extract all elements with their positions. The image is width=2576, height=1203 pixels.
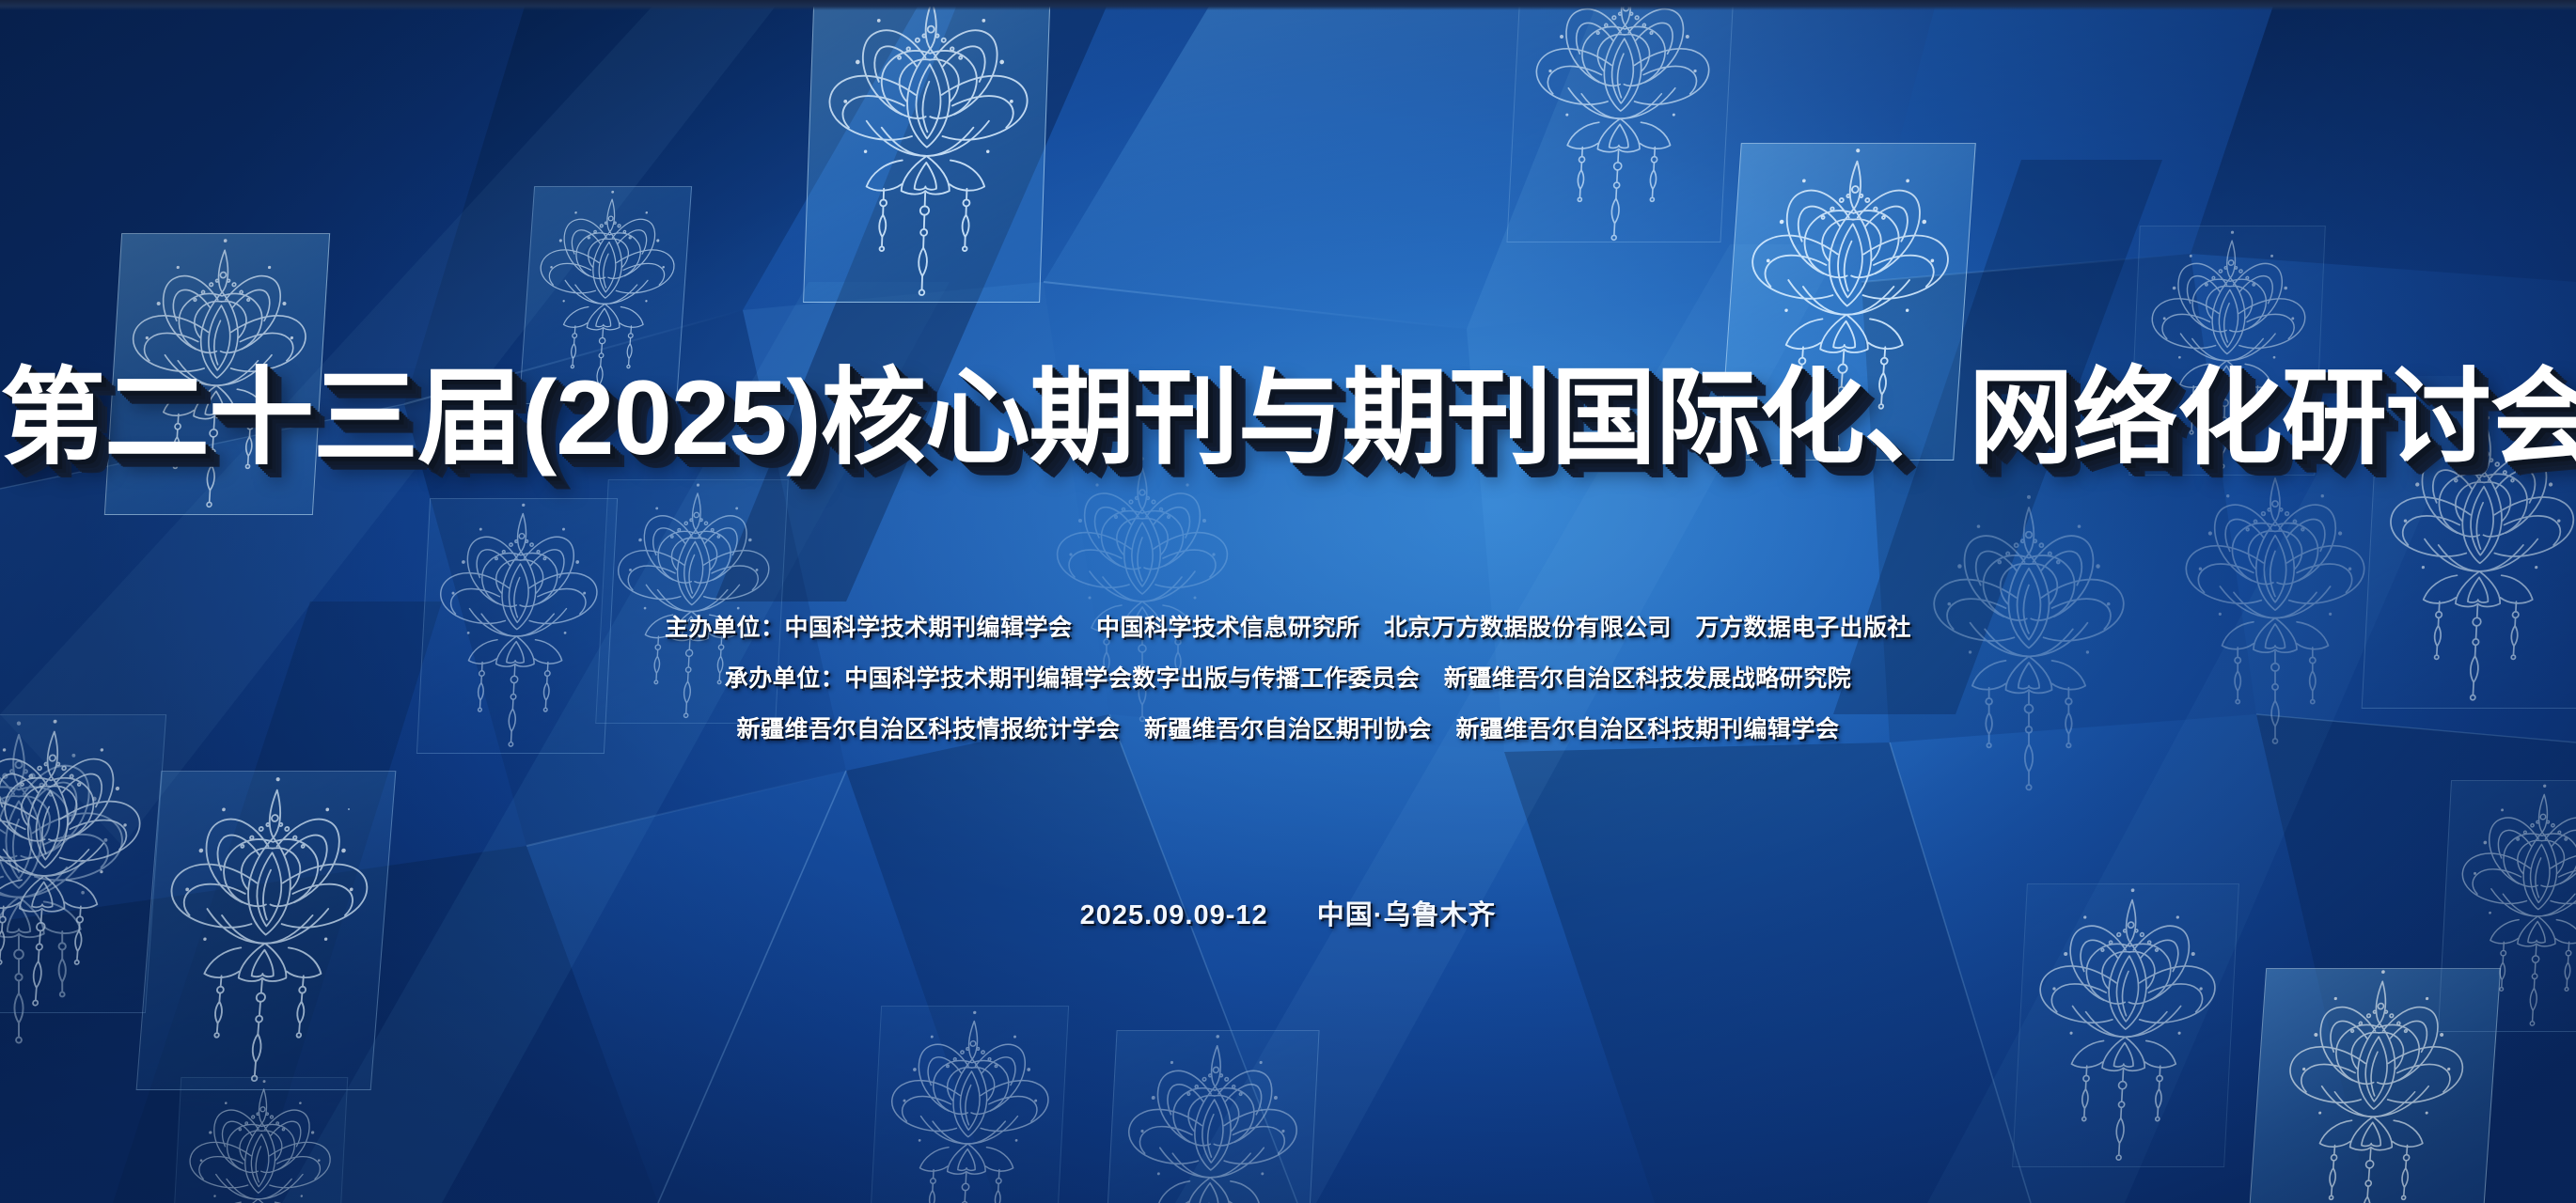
date-location-bar: 2025.09.09-12 中国·乌鲁木齐 <box>0 893 2576 932</box>
organizer-line: 主办单位：中国科学技术期刊编辑学会 中国科学技术信息研究所 北京万方数据股份有限… <box>0 617 2576 640</box>
conference-title: 第二十三届(2025)核心期刊与期刊国际化、网络化研讨会 <box>0 365 2576 472</box>
event-location: 中国·乌鲁木齐 <box>1317 900 1497 930</box>
organizer-line: 新疆维吾尔自治区科技情报统计学会 新疆维吾尔自治区期刊协会 新疆维吾尔自治区科技… <box>0 718 2576 742</box>
organizer-list: 主办单位：中国科学技术期刊编辑学会 中国科学技术信息研究所 北京万方数据股份有限… <box>0 617 2576 742</box>
event-date: 2025.09.09-12 <box>1080 900 1268 930</box>
conference-banner: 第二十三届(2025)核心期刊与期刊国际化、网络化研讨会 主办单位：中国科学技术… <box>0 0 2576 1203</box>
banner-content: 第二十三届(2025)核心期刊与期刊国际化、网络化研讨会 主办单位：中国科学技术… <box>0 0 2576 1203</box>
organizer-line: 承办单位：中国科学技术期刊编辑学会数字出版与传播工作委员会 新疆维吾尔自治区科技… <box>0 667 2576 691</box>
